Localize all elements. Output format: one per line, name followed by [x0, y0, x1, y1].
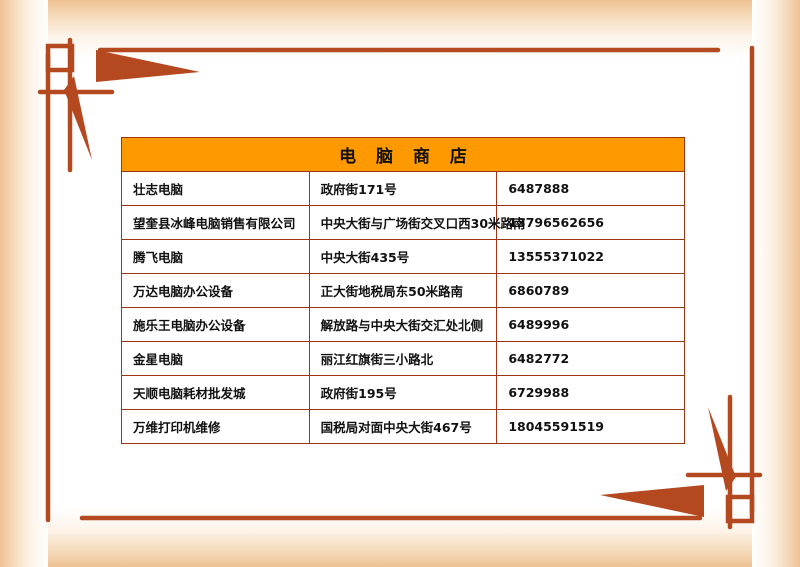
- cell-shop-name: 万维打印机维修: [122, 410, 310, 444]
- cell-shop-name: 壮志电脑: [122, 172, 310, 206]
- shop-table: 电 脑 商 店 壮志电脑 政府街171号 6487888 望奎县冰峰电脑销售有限…: [121, 137, 685, 444]
- cell-shop-address: 正大街地税局东50米路南: [309, 274, 497, 308]
- cell-shop-phone: 6489996: [497, 308, 685, 342]
- shop-directory: 电 脑 商 店 壮志电脑 政府街171号 6487888 望奎县冰峰电脑销售有限…: [121, 137, 685, 444]
- vignette-edge-top: [0, 0, 800, 60]
- page-title: 电 脑 商 店: [122, 138, 685, 172]
- table-row[interactable]: 望奎县冰峰电脑销售有限公司 中央大街与广场街交叉口西30米路南 13796562…: [122, 206, 685, 240]
- table-row[interactable]: 金星电脑 丽江红旗街三小路北 6482772: [122, 342, 685, 376]
- cell-shop-address: 国税局对面中央大街467号: [309, 410, 497, 444]
- cell-shop-phone: 6482772: [497, 342, 685, 376]
- cell-shop-address: 中央大街435号: [309, 240, 497, 274]
- cell-shop-address: 政府街195号: [309, 376, 497, 410]
- ornament-square-top-left: [48, 46, 72, 70]
- cell-shop-phone: 13555371022: [497, 240, 685, 274]
- cell-shop-name: 天顺电脑耗材批发城: [122, 376, 310, 410]
- cell-shop-address: 丽江红旗街三小路北: [309, 342, 497, 376]
- table-row[interactable]: 天顺电脑耗材批发城 政府街195号 6729988: [122, 376, 685, 410]
- cell-shop-address: 解放路与中央大街交汇处北侧: [309, 308, 497, 342]
- ornament-square-bottom-right: [728, 497, 752, 521]
- ornament-wedge-down-top-left: [64, 76, 92, 160]
- cell-shop-phone: 13796562656: [497, 206, 685, 240]
- cell-shop-address: 政府街171号: [309, 172, 497, 206]
- cell-shop-name: 金星电脑: [122, 342, 310, 376]
- vignette-edge-bottom: [0, 507, 800, 567]
- cell-shop-phone: 6860789: [497, 274, 685, 308]
- vignette-edge-left: [0, 0, 48, 567]
- cell-shop-phone: 6487888: [497, 172, 685, 206]
- table-row[interactable]: 施乐王电脑办公设备 解放路与中央大街交汇处北侧 6489996: [122, 308, 685, 342]
- table-row[interactable]: 万维打印机维修 国税局对面中央大街467号 18045591519: [122, 410, 685, 444]
- table-row[interactable]: 腾飞电脑 中央大街435号 13555371022: [122, 240, 685, 274]
- cell-shop-name: 腾飞电脑: [122, 240, 310, 274]
- vignette-edge-right: [752, 0, 800, 567]
- table-row[interactable]: 万达电脑办公设备 正大街地税局东50米路南 6860789: [122, 274, 685, 308]
- page-canvas: 电 脑 商 店 壮志电脑 政府街171号 6487888 望奎县冰峰电脑销售有限…: [0, 0, 800, 567]
- cell-shop-address: 中央大街与广场街交叉口西30米路南: [309, 206, 497, 240]
- ornament-wedge-right-top-left: [96, 50, 200, 82]
- cell-shop-name: 万达电脑办公设备: [122, 274, 310, 308]
- table-row[interactable]: 壮志电脑 政府街171号 6487888: [122, 172, 685, 206]
- shop-table-body: 电 脑 商 店 壮志电脑 政府街171号 6487888 望奎县冰峰电脑销售有限…: [122, 138, 685, 444]
- cell-shop-name: 望奎县冰峰电脑销售有限公司: [122, 206, 310, 240]
- cell-shop-phone: 6729988: [497, 376, 685, 410]
- table-title-row: 电 脑 商 店: [122, 138, 685, 172]
- cell-shop-name: 施乐王电脑办公设备: [122, 308, 310, 342]
- cell-shop-phone: 18045591519: [497, 410, 685, 444]
- ornament-wedge-left-bottom-right: [600, 485, 704, 517]
- ornament-wedge-up-bottom-right: [708, 407, 736, 491]
